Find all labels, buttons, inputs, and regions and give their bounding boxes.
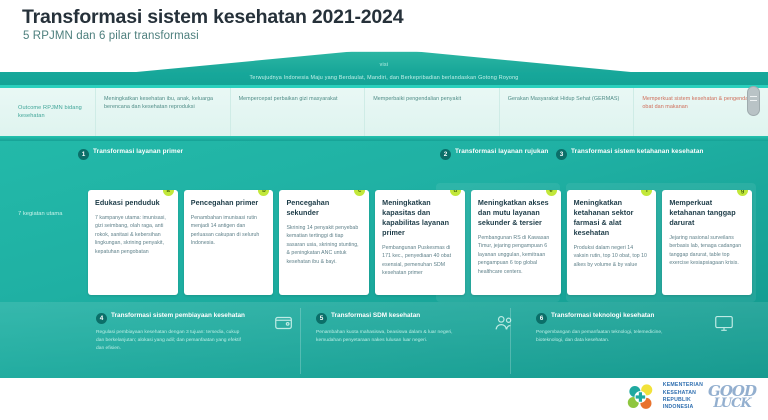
- pillar-header-3[interactable]: 3 Transformasi sistem ketahanan kesehata…: [556, 148, 736, 170]
- monitor-icon: [712, 312, 736, 334]
- activities-side-label: 7 kegiatan utama: [18, 210, 90, 219]
- outcome-cells: Meningkatkan kesehatan ibu, anak, keluar…: [95, 88, 768, 136]
- card-body: Pembangunan Puskesmas di 171 kec., penye…: [382, 244, 458, 278]
- page-subtitle: 5 RPJMN dan 6 pilar transformasi: [23, 30, 199, 42]
- pillar-header-1[interactable]: 1 Transformasi layanan primer: [78, 148, 434, 170]
- card-badge: g: [737, 190, 748, 196]
- pillar-number-badge: 3: [556, 149, 567, 160]
- pillar-number-badge: 1: [78, 149, 89, 160]
- card-badge: f: [641, 190, 652, 196]
- outcome-side-label: Outcome RPJMN bidang kesehatan: [18, 104, 95, 120]
- ministry-line: KEMENTERIAN: [663, 382, 703, 389]
- kemenkes-logo-icon: [626, 382, 658, 412]
- pillar-title: Transformasi teknologi kesehatan: [551, 312, 654, 321]
- activity-card[interactable]: f Meningkatkan ketahanan sektor farmasi …: [567, 190, 657, 295]
- pillar-header-2[interactable]: 2 Transformasi layanan rujukan: [440, 148, 550, 170]
- wallet-icon: [272, 312, 296, 334]
- card-badge: c: [354, 190, 365, 196]
- outcome-strip: Outcome RPJMN bidang kesehatan Meningkat…: [0, 88, 768, 136]
- outcome-side-label-wrap: Outcome RPJMN bidang kesehatan: [0, 88, 95, 136]
- outcome-item-text: Meningkatkan kesehatan ibu, anak, keluar…: [104, 95, 222, 112]
- outcome-item: Memperbaiki pengendalian penyakit: [364, 88, 499, 136]
- card-title: Meningkatkan kapasitas dan kapabilitas l…: [382, 198, 458, 238]
- goodluck-watermark: GOOD LUCK: [708, 385, 756, 409]
- activity-card[interactable]: a Edukasi penduduk 7 kampanye utama: imu…: [88, 190, 178, 295]
- card-badge: b: [258, 190, 269, 196]
- card-badge: d: [450, 190, 461, 196]
- card-title: Pencegahan primer: [191, 198, 267, 208]
- pillar-title: Transformasi sistem pembiayaan kesehatan: [111, 312, 245, 321]
- card-badge: e: [546, 190, 557, 196]
- scrollbar-thumb[interactable]: [747, 86, 760, 116]
- pillar-number-badge: 4: [96, 313, 107, 324]
- activity-cards: a Edukasi penduduk 7 kampanye utama: imu…: [88, 190, 752, 295]
- pillar-title: Transformasi layanan rujukan: [455, 148, 548, 157]
- bottom-pillar-6[interactable]: 6 Transformasi teknologi kesehatan Penge…: [536, 312, 746, 353]
- card-body: Jejaring nasional surveilans berbasis la…: [669, 234, 745, 268]
- outcome-item-text: Memperkuat sistem kesehatan & pengendali…: [642, 95, 760, 112]
- ministry-line: KESEHATAN: [663, 390, 703, 397]
- pillar-title: Transformasi layanan primer: [93, 148, 183, 157]
- card-body: Pembangunan RS di Kawasan Timur, jejarin…: [478, 234, 554, 276]
- pillar-header-row: 1 Transformasi layanan primer 2 Transfor…: [78, 148, 758, 170]
- outcome-item-text: Memperbaiki pengendalian penyakit: [373, 95, 461, 103]
- card-title: Meningkatkan ketahanan sektor farmasi & …: [574, 198, 650, 238]
- page-title: Transformasi sistem kesehatan 2021-2024: [22, 6, 403, 29]
- ministry-name: KEMENTERIAN KESEHATAN REPUBLIK INDONESIA: [663, 382, 703, 411]
- activity-card[interactable]: e Meningkatkan akses dan mutu layanan se…: [471, 190, 561, 295]
- vision-statement-text: Terwujudnya Indonesia Maju yang Berdaula…: [249, 76, 518, 82]
- card-badge: a: [163, 190, 174, 196]
- card-body: 7 kampanye utama: imunisasi, gizi seimba…: [95, 214, 171, 256]
- pillar-title: Transformasi SDM kesehatan: [331, 312, 420, 321]
- vision-statement-bar: Terwujudnya Indonesia Maju yang Berdaula…: [0, 72, 768, 85]
- pillar-body: Penambahan kuota mahasiswa, beasiswa dal…: [316, 329, 466, 345]
- card-title: Memperkuat ketahanan tanggap darurat: [669, 198, 745, 228]
- infographic-root: Transformasi sistem kesehatan 2021-2024 …: [0, 0, 768, 420]
- pillar-number-badge: 6: [536, 313, 547, 324]
- card-title: Pencegahan sekunder: [286, 198, 362, 218]
- bottom-pillars: 4 Transformasi sistem pembiayaan kesehat…: [96, 312, 746, 353]
- footer-logo-area: KEMENTERIAN KESEHATAN REPUBLIK INDONESIA…: [626, 382, 756, 412]
- ministry-line: REPUBLIK: [663, 397, 703, 404]
- outcome-item: Mempercepat perbaikan gizi masyarakat: [230, 88, 365, 136]
- goodluck-bottom: LUCK: [708, 398, 756, 409]
- card-body: Produksi dalam negeri 14 vaksin rutin, t…: [574, 244, 650, 269]
- pillar-number-badge: 5: [316, 313, 327, 324]
- pillar-title: Transformasi sistem ketahanan kesehatan: [571, 148, 703, 157]
- outcome-item: Meningkatkan kesehatan ibu, anak, keluar…: [95, 88, 230, 136]
- card-body: Skrining 14 penyakit penyebab kematian t…: [286, 224, 362, 266]
- ministry-line: INDONESIA: [663, 404, 703, 411]
- visi-label: visi: [0, 62, 768, 68]
- pillar-body: Pengembangan dan pemanfaatan teknologi, …: [536, 329, 686, 345]
- pillar-number-badge: 2: [440, 149, 451, 160]
- outcome-item-text: Gerakan Masyarakat Hidup Sehat (GERMAS): [508, 95, 620, 103]
- bottom-pillar-4[interactable]: 4 Transformasi sistem pembiayaan kesehat…: [96, 312, 306, 353]
- people-icon: [492, 312, 516, 334]
- pillar-body: Regulasi pembiayaan kesehatan dengan 3 t…: [96, 329, 246, 353]
- activity-card[interactable]: d Meningkatkan kapasitas dan kapabilitas…: [375, 190, 465, 295]
- outcome-item-text: Mempercepat perbaikan gizi masyarakat: [239, 95, 338, 103]
- activity-card[interactable]: g Memperkuat ketahanan tanggap darurat J…: [662, 190, 752, 295]
- activity-card[interactable]: b Pencegahan primer Penambahan imunisasi…: [184, 190, 274, 295]
- card-body: Penambahan imunisasi rutin menjadi 14 an…: [191, 214, 267, 248]
- card-title: Meningkatkan akses dan mutu layanan seku…: [478, 198, 554, 228]
- bottom-pillar-5[interactable]: 5 Transformasi SDM kesehatan Penambahan …: [316, 312, 526, 353]
- outcome-item: Gerakan Masyarakat Hidup Sehat (GERMAS): [499, 88, 634, 136]
- card-title: Edukasi penduduk: [95, 198, 171, 208]
- activity-card[interactable]: c Pencegahan sekunder Skrining 14 penyak…: [279, 190, 369, 295]
